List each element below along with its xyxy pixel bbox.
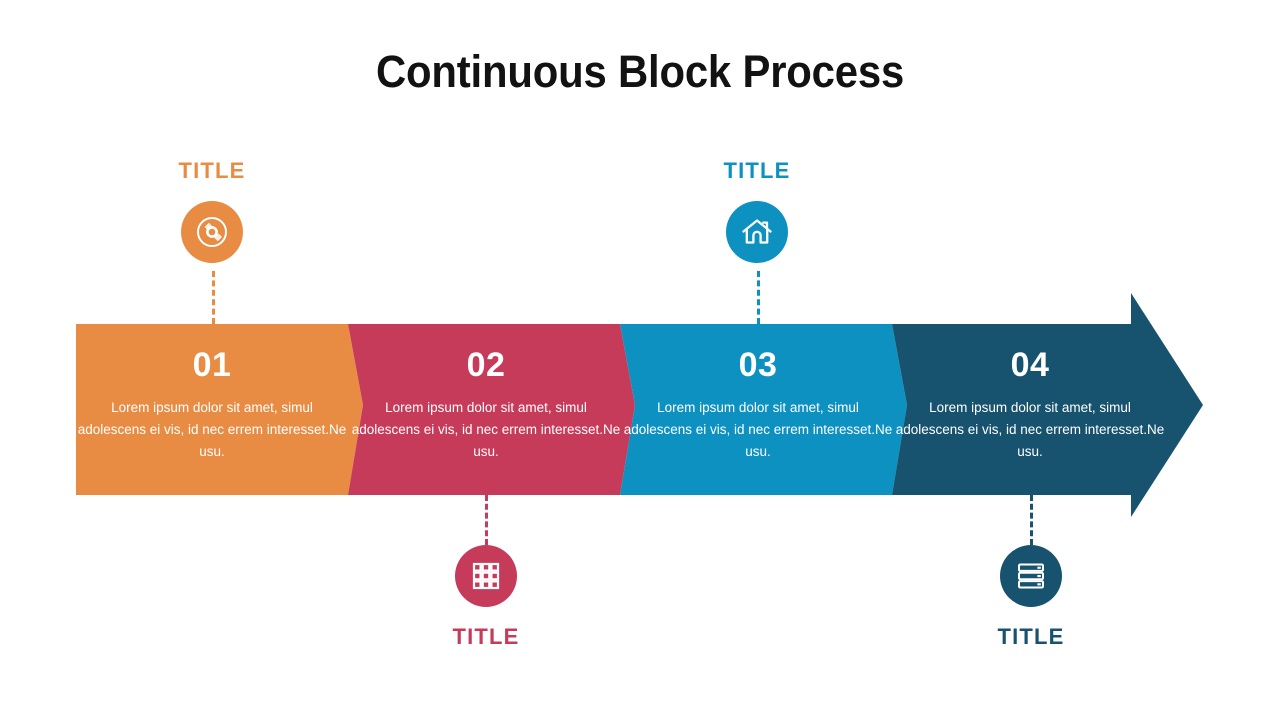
- block-description-4: Lorem ipsum dolor sit amet, simul adoles…: [894, 397, 1166, 463]
- marker-icon-circle-1[interactable]: [181, 201, 243, 263]
- marker-4[interactable]: TITLE: [931, 545, 1131, 648]
- cd-disc-icon: [194, 214, 230, 250]
- block-number-1: 01: [76, 348, 348, 382]
- marker-3[interactable]: TITLE: [657, 160, 857, 263]
- marker-icon-circle-4[interactable]: [1000, 545, 1062, 607]
- marker-1[interactable]: TITLE: [112, 160, 312, 263]
- connector-line-2: [485, 495, 488, 545]
- block-description-3: Lorem ipsum dolor sit amet, simul adoles…: [622, 397, 894, 463]
- page-title: Continuous Block Process: [45, 47, 1235, 97]
- marker-label-4: TITLE: [931, 626, 1131, 648]
- marker-2[interactable]: TITLE: [386, 545, 586, 648]
- marker-label-1: TITLE: [112, 160, 312, 182]
- slide-canvas: Continuous Block Process 01 Lorem ipsum …: [0, 0, 1280, 720]
- process-block-1[interactable]: 01 Lorem ipsum dolor sit amet, simul ado…: [76, 348, 348, 463]
- home-icon: [740, 215, 774, 249]
- server-stack-icon: [1015, 560, 1047, 592]
- grid-squares-icon: [471, 561, 501, 591]
- process-block-3[interactable]: 03 Lorem ipsum dolor sit amet, simul ado…: [622, 348, 894, 463]
- marker-icon-circle-3[interactable]: [726, 201, 788, 263]
- marker-label-2: TITLE: [386, 626, 586, 648]
- marker-icon-circle-2[interactable]: [455, 545, 517, 607]
- marker-label-3: TITLE: [657, 160, 857, 182]
- block-number-2: 02: [350, 348, 622, 382]
- process-block-4[interactable]: 04 Lorem ipsum dolor sit amet, simul ado…: [894, 348, 1166, 463]
- connector-line-1: [212, 271, 215, 324]
- block-description-1: Lorem ipsum dolor sit amet, simul adoles…: [76, 397, 348, 463]
- block-number-4: 04: [894, 348, 1166, 382]
- connector-line-4: [1030, 495, 1033, 545]
- connector-line-3: [757, 271, 760, 324]
- block-number-3: 03: [622, 348, 894, 382]
- process-block-2[interactable]: 02 Lorem ipsum dolor sit amet, simul ado…: [350, 348, 622, 463]
- block-description-2: Lorem ipsum dolor sit amet, simul adoles…: [350, 397, 622, 463]
